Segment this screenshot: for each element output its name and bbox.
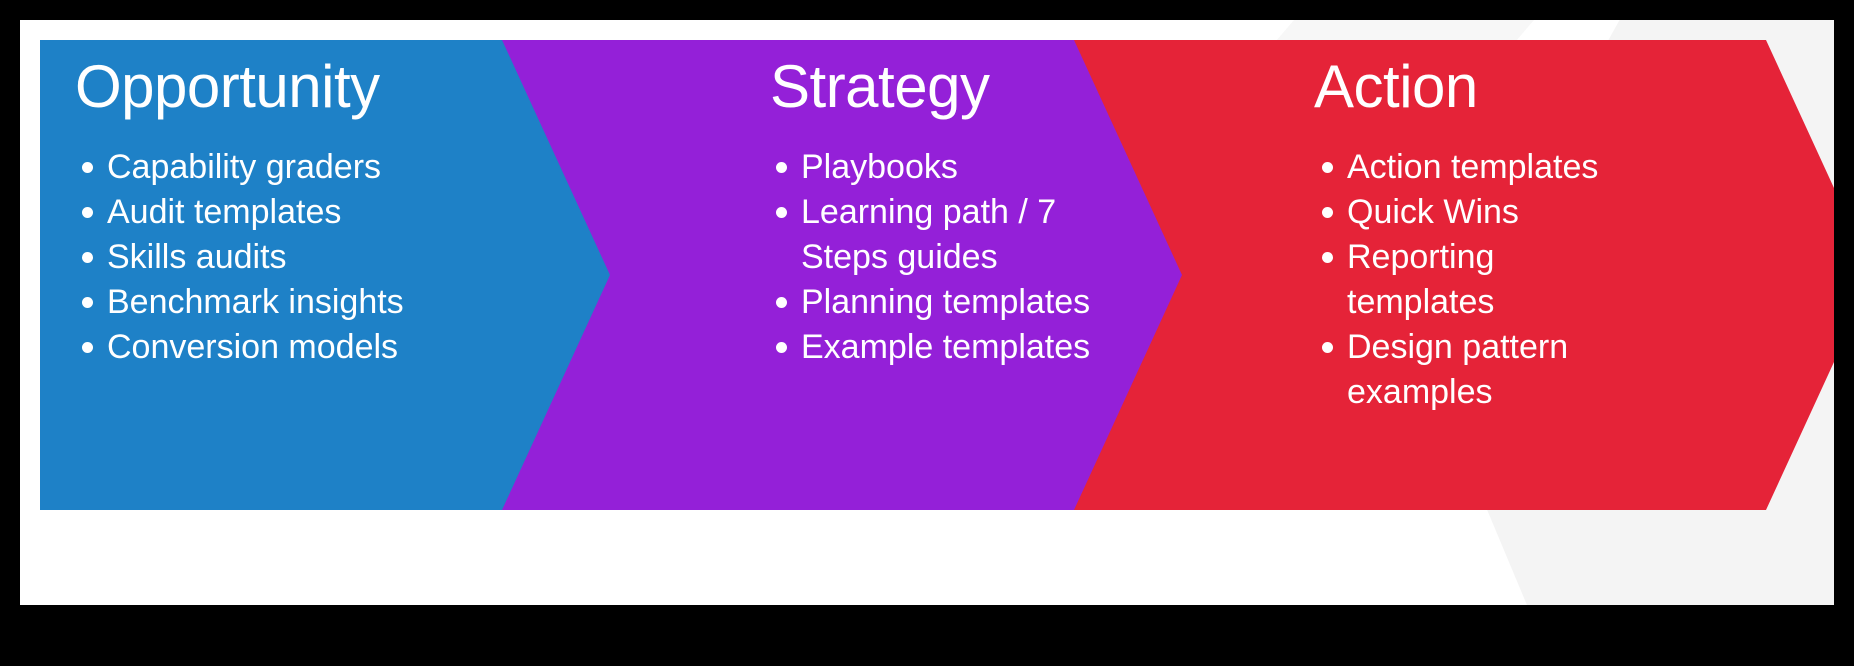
bullet-dot-icon bbox=[776, 207, 787, 218]
bullet-label: Skills audits bbox=[107, 238, 287, 276]
bullet-label: Playbooks bbox=[801, 148, 958, 186]
bullet-item: Conversion models bbox=[80, 325, 500, 370]
bullet-item: Capability graders bbox=[80, 145, 500, 190]
bullet-label: Audit templates bbox=[107, 193, 341, 231]
chevron-stage-action[interactable]: Action Action templatesQuick WinsReporti… bbox=[1074, 40, 1834, 510]
bullet-item: Reporting templates bbox=[1320, 235, 1620, 325]
bullet-label: Capability graders bbox=[107, 148, 381, 186]
bullet-label: Reporting templates bbox=[1347, 238, 1494, 321]
bullet-label: Example templates bbox=[801, 328, 1090, 366]
bullet-list-strategy: PlaybooksLearning path / 7 Steps guidesP… bbox=[774, 145, 1114, 370]
bullet-list-action: Action templatesQuick WinsReporting temp… bbox=[1320, 145, 1620, 415]
bullet-dot-icon bbox=[776, 162, 787, 173]
bullet-dot-icon bbox=[82, 207, 93, 218]
bullet-label: Action templates bbox=[1347, 148, 1598, 186]
bullet-label: Planning templates bbox=[801, 283, 1090, 321]
chevron-body-action: Action Action templatesQuick WinsReporti… bbox=[1074, 40, 1834, 510]
bullet-item: Quick Wins bbox=[1320, 190, 1620, 235]
diagram-frame: Opportunity Capability gradersAudit temp… bbox=[0, 0, 1854, 666]
bullet-item: Playbooks bbox=[774, 145, 1114, 190]
bullet-dot-icon bbox=[1322, 207, 1333, 218]
bullet-item: Planning templates bbox=[774, 280, 1114, 325]
bullet-dot-icon bbox=[82, 297, 93, 308]
stage-title-opportunity: Opportunity bbox=[75, 57, 380, 117]
stage-title-action: Action bbox=[1314, 57, 1478, 117]
bullet-label: Benchmark insights bbox=[107, 283, 404, 321]
bullet-dot-icon bbox=[82, 162, 93, 173]
bullet-dot-icon bbox=[82, 342, 93, 353]
stage-title-strategy: Strategy bbox=[770, 57, 989, 117]
bullet-label: Design pattern examples bbox=[1347, 328, 1568, 411]
bullet-dot-icon bbox=[776, 297, 787, 308]
bullet-label: Quick Wins bbox=[1347, 193, 1519, 231]
bullet-item: Design pattern examples bbox=[1320, 325, 1620, 415]
bullet-item: Audit templates bbox=[80, 190, 500, 235]
bullet-label: Conversion models bbox=[107, 328, 398, 366]
bullet-dot-icon bbox=[1322, 342, 1333, 353]
bullet-dot-icon bbox=[1322, 162, 1333, 173]
bullet-label: Learning path / 7 Steps guides bbox=[801, 193, 1056, 276]
bullet-item: Action templates bbox=[1320, 145, 1620, 190]
bullet-dot-icon bbox=[776, 342, 787, 353]
bullet-item: Example templates bbox=[774, 325, 1114, 370]
slide-canvas: Opportunity Capability gradersAudit temp… bbox=[20, 20, 1834, 605]
bullet-dot-icon bbox=[1322, 252, 1333, 263]
bullet-item: Skills audits bbox=[80, 235, 500, 280]
bullet-item: Benchmark insights bbox=[80, 280, 500, 325]
bullet-dot-icon bbox=[82, 252, 93, 263]
bullet-item: Learning path / 7 Steps guides bbox=[774, 190, 1114, 280]
bullet-list-opportunity: Capability gradersAudit templatesSkills … bbox=[80, 145, 500, 370]
